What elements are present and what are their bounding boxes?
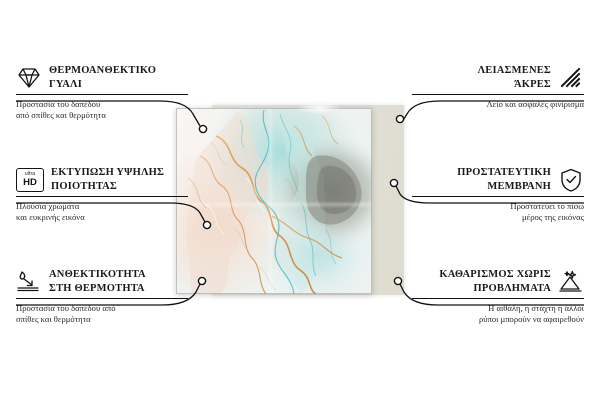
feature-title: ΘΕΡΜΟΑΝΘΕΚΤΙΚΟ ΓΥΑΛΙ	[49, 64, 156, 91]
feature-high-quality-print: ultra HD ΕΚΤΥΠΩΣΗ ΥΨΗΛΗΣ ΠΟΙΟΤΗΤΑΣ Πλούσ…	[16, 166, 188, 224]
flame-heat-resistance-icon	[16, 269, 42, 295]
feature-title-line1: ΕΚΤΥΠΩΣΗ ΥΨΗΛΗΣ	[51, 167, 164, 178]
feature-protective-membrane: ΠΡΟΣΤΑΤΕΥΤΙΚΗ ΜΕΜΒΡΑΝΗ Προστατεύει το πί…	[412, 166, 584, 224]
polished-edges-icon	[558, 65, 584, 91]
feature-description-line1: Πλούσια χρώματα	[16, 201, 79, 211]
feature-description-line1: Προστασία του δαπέδου	[16, 99, 100, 109]
feature-title-line1: ΠΡΟΣΤΑΤΕΥΤΙΚΗ	[457, 167, 551, 178]
feature-description-line1: Προστασία του δαπέδου από	[16, 303, 116, 313]
feature-easy-cleaning: ΚΑΘΑΡΙΣΜΟΣ ΧΩΡΙΣ ΠΡΟΒΛΗΜΑΤΑ Η αιθάλη, η …	[412, 268, 584, 326]
feature-title: ΛΕΙΑΣΜΕΝΕΣ ΆΚΡΕΣ	[478, 64, 551, 91]
ultra-hd-label-bottom: HD	[23, 178, 37, 188]
product-image	[176, 108, 404, 294]
marble-ink-artwork	[176, 108, 372, 294]
infographic-canvas: ΘΕΡΜΟΑΝΘΕΚΤΙΚΟ ΓΥΑΛΙ Προστασία του δαπέδ…	[0, 0, 600, 400]
divider	[16, 196, 188, 197]
feature-title: ΕΚΤΥΠΩΣΗ ΥΨΗΛΗΣ ΠΟΙΟΤΗΤΑΣ	[51, 166, 164, 193]
feature-description-line2: και ευκρινής εικόνα	[16, 212, 85, 222]
feature-description-line2: σπίθες και θερμότητα	[16, 314, 91, 324]
feature-description-line2: από σπίθες και θερμότητα	[16, 110, 106, 120]
feature-title-line2: ΣΤΗ ΘΕΡΜΟΤΗΤΑ	[49, 283, 145, 294]
feature-description-line2: ρύποι μπορούν να αφαιρεθούν	[479, 314, 584, 324]
feature-polished-edges: ΛΕΙΑΣΜΕΝΕΣ ΆΚΡΕΣ Λείο και ασφαλές φινίρι…	[412, 64, 584, 110]
feature-title: ΑΝΘΕΚΤΙΚΟΤΗΤΑ ΣΤΗ ΘΕΡΜΟΤΗΤΑ	[49, 268, 146, 295]
feature-description: Προστασία του δαπέδου από σπίθες και θερ…	[16, 99, 188, 122]
feature-title-line2: ΓΥΑΛΙ	[49, 79, 82, 90]
feature-title-line2: ΜΕΜΒΡΑΝΗ	[487, 181, 551, 192]
easy-cleaning-icon	[558, 269, 584, 295]
feature-title-line2: ΠΟΙΟΤΗΤΑΣ	[51, 181, 117, 192]
divider	[412, 298, 584, 299]
feature-title-line1: ΑΝΘΕΚΤΙΚΟΤΗΤΑ	[49, 269, 146, 280]
feature-heat-durability: ΑΝΘΕΚΤΙΚΟΤΗΤΑ ΣΤΗ ΘΕΡΜΟΤΗΤΑ Προστασία το…	[16, 268, 188, 326]
divider	[412, 94, 584, 95]
feature-title: ΚΑΘΑΡΙΣΜΟΣ ΧΩΡΙΣ ΠΡΟΒΛΗΜΑΤΑ	[439, 268, 551, 295]
feature-description: Προστατεύει το πίσω μέρος της εικόνας	[412, 201, 584, 224]
diamond-icon	[16, 65, 42, 91]
feature-title: ΠΡΟΣΤΑΤΕΥΤΙΚΗ ΜΕΜΒΡΑΝΗ	[457, 166, 551, 193]
feature-description: Πλούσια χρώματα και ευκρινής εικόνα	[16, 201, 188, 224]
glass-panel	[176, 108, 372, 294]
shield-check-icon	[558, 167, 584, 193]
feature-title-line1: ΛΕΙΑΣΜΕΝΕΣ	[478, 65, 551, 76]
feature-description: Η αιθάλη, η στάχτη ή άλλοι ρύποι μπορούν…	[412, 303, 584, 326]
ultra-hd-icon: ultra HD	[16, 168, 44, 192]
feature-title-line1: ΚΑΘΑΡΙΣΜΟΣ ΧΩΡΙΣ	[439, 269, 551, 280]
feature-description: Προστασία του δαπέδου από σπίθες και θερ…	[16, 303, 188, 326]
divider	[16, 298, 188, 299]
feature-title-line1: ΘΕΡΜΟΑΝΘΕΚΤΙΚΟ	[49, 65, 156, 76]
feature-description-line1: Προστατεύει το πίσω	[510, 201, 584, 211]
feature-heat-resistant-glass: ΘΕΡΜΟΑΝΘΕΚΤΙΚΟ ΓΥΑΛΙ Προστασία του δαπέδ…	[16, 64, 188, 122]
feature-title-line2: ΠΡΟΒΛΗΜΑΤΑ	[474, 283, 551, 294]
feature-title-line2: ΆΚΡΕΣ	[514, 79, 551, 90]
divider	[412, 196, 584, 197]
divider	[16, 94, 188, 95]
feature-description-line1: Η αιθάλη, η στάχτη ή άλλοι	[488, 303, 584, 313]
feature-description-line1: Λείο και ασφαλές φινίρισμα	[486, 99, 584, 109]
feature-description: Λείο και ασφαλές φινίρισμα	[412, 99, 584, 110]
feature-description-line2: μέρος της εικόνας	[522, 212, 584, 222]
